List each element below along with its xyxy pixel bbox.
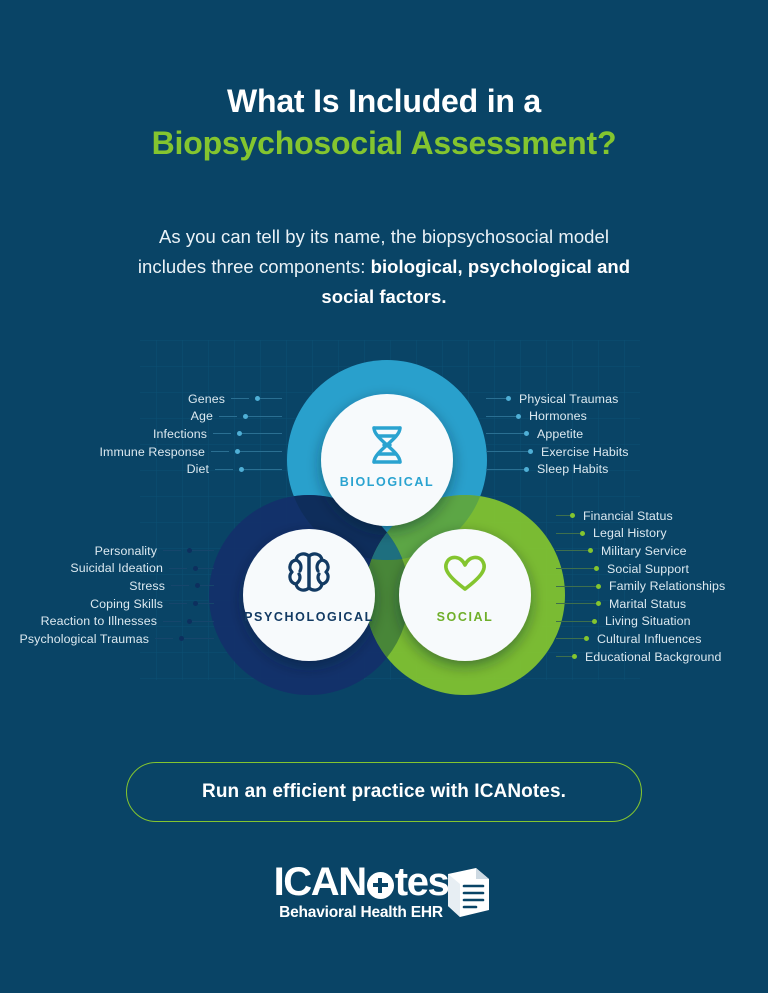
cta-label: Run an efficient practice with ICANotes. xyxy=(202,781,566,803)
label-text: Reaction to Illnesses xyxy=(41,614,157,628)
label-text: Social Support xyxy=(607,562,689,576)
document-icon xyxy=(442,866,494,925)
label-text: Infections xyxy=(153,427,207,441)
infographic-page: What Is Included in a Biopsychosocial As… xyxy=(0,0,768,993)
connector-line xyxy=(169,568,187,569)
logo-word-part1: ICAN xyxy=(274,862,366,902)
psychological-label: PSYCHOLOGICAL xyxy=(244,610,374,624)
logo-wordmark: ICAN tes xyxy=(274,862,449,902)
page-title-line2: Biopsychosocial Assessment? xyxy=(0,122,768,164)
connector-line xyxy=(486,398,506,399)
connector-line xyxy=(213,433,231,434)
connector-line xyxy=(556,515,570,516)
connector-dot xyxy=(592,619,597,624)
connector-line xyxy=(556,533,580,534)
list-item: Coping Skills xyxy=(14,595,214,613)
biological-left-labels: Genes Age Infections Immune Response Die… xyxy=(40,390,282,478)
connector-dot xyxy=(596,584,601,589)
list-item: Psychological Traumas xyxy=(14,630,214,648)
connector-line xyxy=(556,568,594,569)
connector-line xyxy=(248,416,282,417)
biological-label: BIOLOGICAL xyxy=(340,475,434,489)
connector-line xyxy=(486,451,528,452)
label-text: Suicidal Ideation xyxy=(70,561,163,575)
label-text: Genes xyxy=(188,392,225,406)
connector-dot xyxy=(524,467,529,472)
label-text: Sleep Habits xyxy=(537,462,608,476)
list-item: Living Situation xyxy=(556,613,768,631)
label-text: Military Service xyxy=(601,544,687,558)
list-item: Suicidal Ideation xyxy=(14,560,214,578)
list-item: Military Service xyxy=(556,542,768,560)
connector-line xyxy=(260,398,282,399)
connector-dot xyxy=(584,636,589,641)
connector-line xyxy=(556,656,572,657)
label-text: Coping Skills xyxy=(90,597,163,611)
connector-line xyxy=(198,568,214,569)
label-text: Personality xyxy=(95,544,157,558)
connector-line xyxy=(155,638,173,639)
list-item: Educational Background xyxy=(556,648,768,666)
connector-line xyxy=(486,433,524,434)
psychological-left-labels: Personality Suicidal Ideation Stress Cop… xyxy=(14,542,214,648)
connector-line xyxy=(231,398,249,399)
connector-line xyxy=(242,433,282,434)
psychological-node xyxy=(243,529,375,661)
list-item: Legal History xyxy=(556,525,768,543)
intro-paragraph: As you can tell by its name, the biopsyc… xyxy=(129,222,639,312)
connector-line xyxy=(184,638,214,639)
logo-tagline: Behavioral Health EHR xyxy=(274,904,449,922)
connector-line xyxy=(556,586,596,587)
connector-dot xyxy=(528,449,533,454)
social-right-labels: Financial Status Legal History Military … xyxy=(556,507,768,665)
label-text: Appetite xyxy=(537,427,583,441)
list-item: Personality xyxy=(14,542,214,560)
connector-line xyxy=(556,621,592,622)
connector-dot xyxy=(588,548,593,553)
label-text: Psychological Traumas xyxy=(19,632,149,646)
list-item: Social Support xyxy=(556,560,768,578)
list-item: Sleep Habits xyxy=(486,460,746,478)
connector-line xyxy=(171,585,189,586)
label-text: Immune Response xyxy=(100,445,206,459)
list-item: Immune Response xyxy=(40,443,282,461)
label-text: Living Situation xyxy=(605,614,691,628)
list-item: Family Relationships xyxy=(556,577,768,595)
connector-line xyxy=(198,603,214,604)
connector-dot xyxy=(594,566,599,571)
label-text: Hormones xyxy=(529,409,587,423)
connector-line xyxy=(486,469,524,470)
social-node xyxy=(399,529,531,661)
connector-dot xyxy=(570,513,575,518)
connector-dot xyxy=(580,531,585,536)
label-text: Family Relationships xyxy=(609,579,725,593)
page-title-line1: What Is Included in a xyxy=(0,80,768,122)
connector-line xyxy=(163,550,181,551)
list-item: Financial Status xyxy=(556,507,768,525)
connector-line xyxy=(240,451,282,452)
label-text: Financial Status xyxy=(583,509,673,523)
biological-right-labels: Physical Traumas Hormones Appetite Exerc… xyxy=(486,390,746,478)
connector-line xyxy=(219,416,237,417)
connector-line xyxy=(556,603,596,604)
label-text: Physical Traumas xyxy=(519,392,618,406)
connector-dot xyxy=(524,431,529,436)
list-item: Age xyxy=(40,408,282,426)
connector-line xyxy=(163,621,181,622)
connector-line xyxy=(200,585,214,586)
list-item: Exercise Habits xyxy=(486,443,746,461)
list-item: Hormones xyxy=(486,408,746,426)
connector-dot xyxy=(596,601,601,606)
label-text: Legal History xyxy=(593,526,667,540)
label-text: Marital Status xyxy=(609,597,686,611)
list-item: Appetite xyxy=(486,425,746,443)
list-item: Infections xyxy=(40,425,282,443)
list-item: Reaction to Illnesses xyxy=(14,612,214,630)
logo-word-part2: tes xyxy=(395,862,449,902)
list-item: Marital Status xyxy=(556,595,768,613)
connector-line xyxy=(556,550,588,551)
label-text: Age xyxy=(191,409,213,423)
connector-line xyxy=(169,603,187,604)
brand-logo[interactable]: ICAN tes Behavioral Health EHR xyxy=(0,862,768,925)
connector-dot xyxy=(516,414,521,419)
connector-line xyxy=(192,550,214,551)
connector-dot xyxy=(572,654,577,659)
connector-line xyxy=(215,469,233,470)
connector-line xyxy=(244,469,282,470)
cta-button[interactable]: Run an efficient practice with ICANotes. xyxy=(126,762,642,822)
label-text: Educational Background xyxy=(585,650,722,664)
label-text: Diet xyxy=(187,462,209,476)
label-text: Exercise Habits xyxy=(541,445,629,459)
connector-line xyxy=(486,416,516,417)
page-title: What Is Included in a Biopsychosocial As… xyxy=(0,80,768,164)
medical-cross-icon xyxy=(367,872,394,899)
label-text: Stress xyxy=(129,579,165,593)
connector-line xyxy=(192,621,214,622)
list-item: Genes xyxy=(40,390,282,408)
list-item: Physical Traumas xyxy=(486,390,746,408)
label-text: Cultural Influences xyxy=(597,632,702,646)
list-item: Diet xyxy=(40,460,282,478)
list-item: Cultural Influences xyxy=(556,630,768,648)
social-label: SOCIAL xyxy=(437,610,494,624)
connector-dot xyxy=(506,396,511,401)
biological-node xyxy=(321,394,453,526)
connector-line xyxy=(556,638,584,639)
list-item: Stress xyxy=(14,577,214,595)
connector-line xyxy=(211,451,229,452)
